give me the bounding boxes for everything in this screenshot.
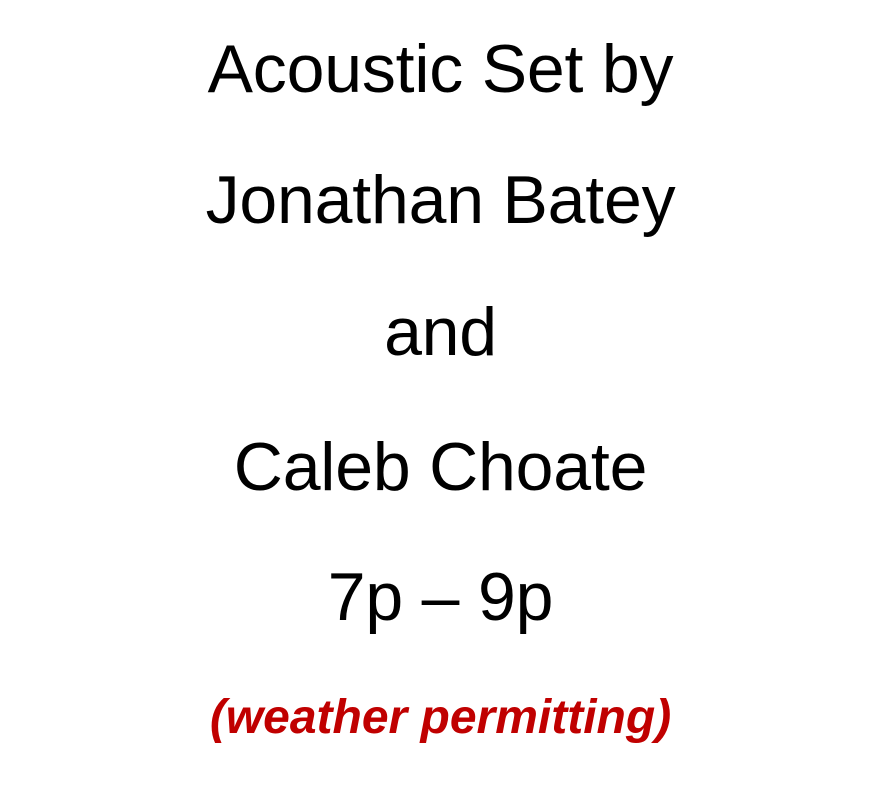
event-poster: Acoustic Set by Jonathan Batey and Caleb… — [0, 0, 881, 787]
event-time: 7p – 9p — [0, 563, 881, 631]
event-title: Acoustic Set by — [0, 35, 881, 103]
performer-name-secondary: Caleb Choate — [0, 433, 881, 501]
conjunction-text: and — [0, 298, 881, 366]
performer-name-primary: Jonathan Batey — [0, 166, 881, 234]
weather-disclaimer: (weather permitting) — [0, 694, 881, 742]
